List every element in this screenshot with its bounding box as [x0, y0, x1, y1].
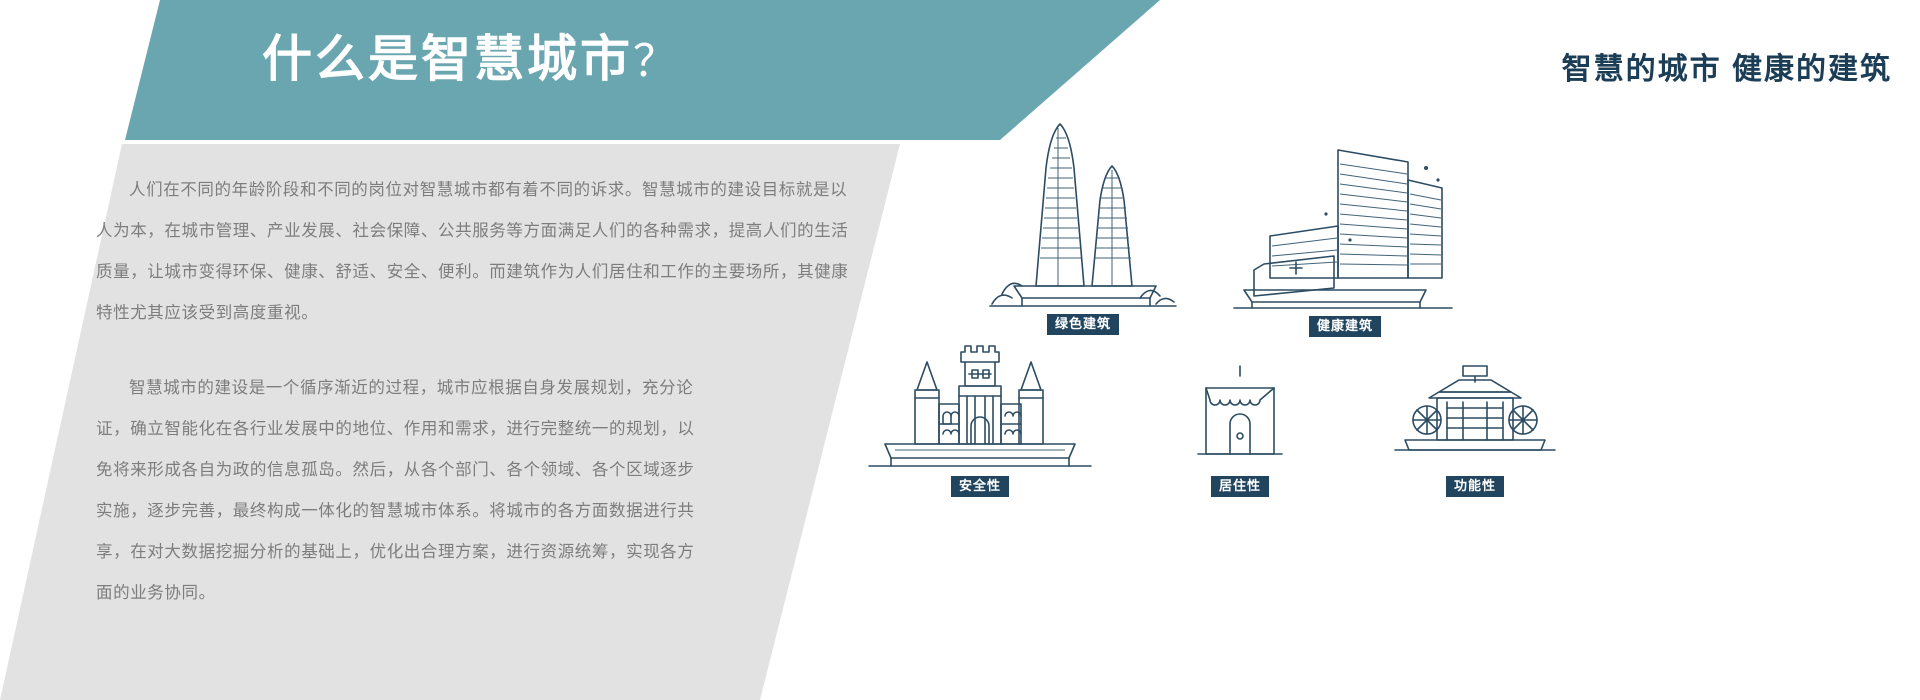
body-text-block: 人们在不同的年龄阶段和不同的岗位对智慧城市都有着不同的诉求。智慧城市的建设目标就…	[96, 170, 856, 614]
livability-house-icon	[1180, 358, 1300, 470]
icon-cell-green-building: 绿色建筑	[958, 108, 1208, 335]
green-building-icon	[988, 108, 1178, 308]
icon-label-green-building: 绿色建筑	[1047, 314, 1119, 335]
health-building-icon	[1230, 140, 1460, 310]
safety-castle-icon	[855, 340, 1105, 470]
icon-label-livability: 居住性	[1211, 476, 1269, 497]
icon-gallery: 绿色建筑	[830, 100, 1920, 660]
right-heading: 智慧的城市 健康的建筑	[1562, 44, 1892, 88]
icon-cell-functionality: 功能性	[1360, 358, 1590, 497]
body-paragraph-2: 智慧城市的建设是一个循序渐近的过程，城市应根据自身发展规划，充分论证，确立智能化…	[96, 368, 711, 614]
icon-label-health-building: 健康建筑	[1309, 316, 1381, 337]
page-title-text: 什么是智慧城市	[262, 31, 633, 87]
slide-root: 什么是智慧城市？ 智慧的城市 健康的建筑 人们在不同的年龄阶段和不同的岗位对智慧…	[0, 0, 1920, 700]
functionality-pavilion-icon	[1385, 358, 1565, 470]
icon-cell-safety: 安全性	[830, 340, 1130, 497]
icon-cell-livability: 居住性	[1140, 358, 1340, 497]
page-title-question-mark: ？	[633, 37, 680, 86]
icon-label-functionality: 功能性	[1446, 476, 1504, 497]
page-title: 什么是智慧城市？	[262, 32, 680, 87]
icon-cell-health-building: 健康建筑	[1210, 140, 1480, 337]
icon-label-safety: 安全性	[951, 476, 1009, 497]
body-paragraph-1: 人们在不同的年龄阶段和不同的岗位对智慧城市都有着不同的诉求。智慧城市的建设目标就…	[96, 170, 856, 334]
